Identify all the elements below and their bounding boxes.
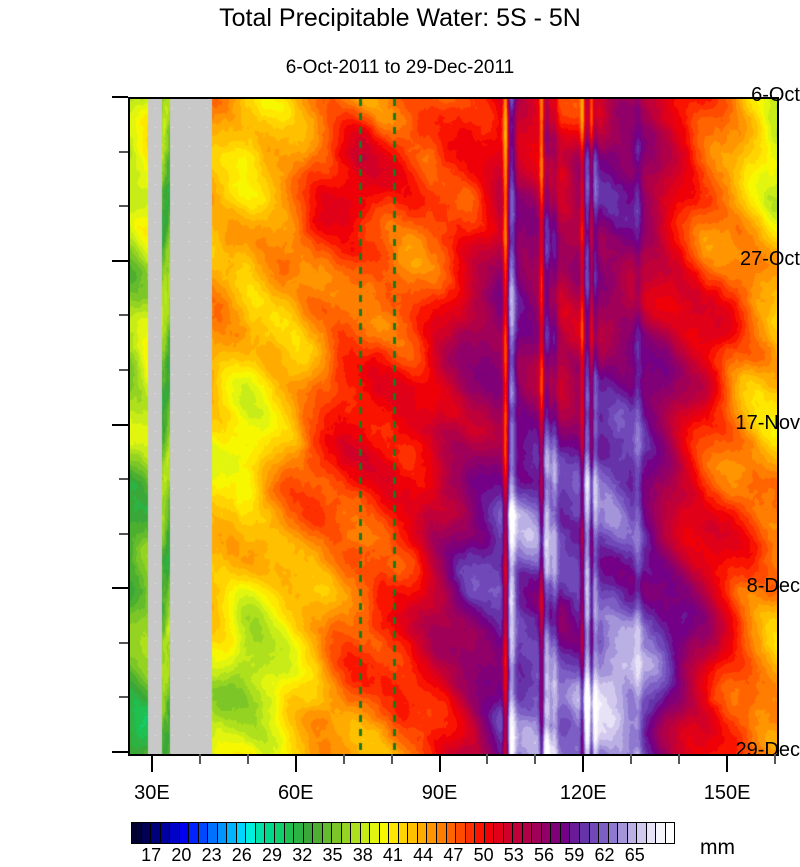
colorbar-swatch[interactable] xyxy=(628,823,638,843)
colorbar-swatch[interactable] xyxy=(399,823,409,843)
y-axis-major-tick xyxy=(112,751,128,753)
x-axis-minor-tick xyxy=(534,754,536,764)
y-axis-tick-label: 17-Nov xyxy=(696,412,800,435)
y-axis-minor-tick xyxy=(119,642,128,644)
colorbar-swatch[interactable] xyxy=(294,823,304,843)
colorbar[interactable] xyxy=(131,822,675,844)
colorbar-swatch[interactable] xyxy=(542,823,552,843)
colorbar-swatch[interactable] xyxy=(523,823,533,843)
colorbar-swatch[interactable] xyxy=(142,823,152,843)
colorbar-swatch[interactable] xyxy=(427,823,437,843)
colorbar-swatch[interactable] xyxy=(275,823,285,843)
colorbar-swatch[interactable] xyxy=(218,823,228,843)
hovmoller-figure: Total Precipitable Water: 5S - 5N 6-Oct-… xyxy=(0,0,800,867)
plot-area[interactable] xyxy=(128,97,779,756)
colorbar-swatch[interactable] xyxy=(637,823,647,843)
colorbar-swatch[interactable] xyxy=(485,823,495,843)
colorbar-swatch[interactable] xyxy=(504,823,514,843)
colorbar-swatch[interactable] xyxy=(475,823,485,843)
x-axis-tick-label: 60E xyxy=(251,782,341,805)
colorbar-swatch[interactable] xyxy=(656,823,666,843)
y-axis-minor-tick xyxy=(119,533,128,535)
colorbar-swatch[interactable] xyxy=(304,823,314,843)
x-axis-tick-label: 90E xyxy=(395,782,485,805)
colorbar-swatch[interactable] xyxy=(151,823,161,843)
colorbar-swatch[interactable] xyxy=(599,823,609,843)
x-axis-minor-tick xyxy=(774,754,776,764)
x-axis-major-tick xyxy=(726,754,728,772)
y-axis-tick-label: 29-Dec xyxy=(696,739,800,762)
colorbar-swatch[interactable] xyxy=(618,823,628,843)
colorbar-swatch[interactable] xyxy=(590,823,600,843)
y-axis-major-tick xyxy=(112,96,128,98)
colorbar-swatch[interactable] xyxy=(227,823,237,843)
x-axis-minor-tick xyxy=(678,754,680,764)
colorbar-swatch[interactable] xyxy=(380,823,390,843)
colorbar-swatch[interactable] xyxy=(389,823,399,843)
colorbar-swatch[interactable] xyxy=(561,823,571,843)
x-axis-major-tick xyxy=(439,754,441,772)
colorbar-swatch[interactable] xyxy=(370,823,380,843)
y-axis-minor-tick xyxy=(119,205,128,207)
colorbar-swatch[interactable] xyxy=(570,823,580,843)
colorbar-swatch[interactable] xyxy=(666,823,675,843)
colorbar-swatch[interactable] xyxy=(513,823,523,843)
page-subtitle: 6-Oct-2011 to 29-Dec-2011 xyxy=(0,57,800,79)
colorbar-swatch[interactable] xyxy=(456,823,466,843)
colorbar-swatch[interactable] xyxy=(323,823,333,843)
x-axis-minor-tick xyxy=(486,754,488,764)
x-axis-minor-tick xyxy=(247,754,249,764)
colorbar-swatch[interactable] xyxy=(256,823,266,843)
colorbar-swatch[interactable] xyxy=(494,823,504,843)
y-axis-tick-label: 6-Oct xyxy=(696,84,800,107)
annotation-vlines-overlay xyxy=(130,99,777,754)
y-axis-major-tick xyxy=(112,260,128,262)
colorbar-swatch[interactable] xyxy=(180,823,190,843)
colorbar-swatch[interactable] xyxy=(466,823,476,843)
x-axis-minor-tick xyxy=(199,754,201,764)
x-axis-major-tick xyxy=(295,754,297,772)
x-axis-minor-tick xyxy=(391,754,393,764)
colorbar-swatch[interactable] xyxy=(285,823,295,843)
colorbar-swatch[interactable] xyxy=(647,823,657,843)
colorbar-swatch[interactable] xyxy=(208,823,218,843)
x-axis-major-tick xyxy=(582,754,584,772)
colorbar-swatch[interactable] xyxy=(170,823,180,843)
x-axis-major-tick xyxy=(151,754,153,772)
y-axis-minor-tick xyxy=(119,696,128,698)
y-axis-tick-label: 8-Dec xyxy=(696,575,800,598)
y-axis-minor-tick xyxy=(119,314,128,316)
colorbar-swatch[interactable] xyxy=(551,823,561,843)
colorbar-swatch[interactable] xyxy=(437,823,447,843)
colorbar-swatch[interactable] xyxy=(246,823,256,843)
colorbar-swatch[interactable] xyxy=(342,823,352,843)
colorbar-swatch[interactable] xyxy=(418,823,428,843)
colorbar-swatch[interactable] xyxy=(265,823,275,843)
colorbar-swatch[interactable] xyxy=(351,823,361,843)
x-axis-minor-tick xyxy=(343,754,345,764)
y-axis-major-tick xyxy=(112,587,128,589)
colorbar-swatch[interactable] xyxy=(189,823,199,843)
colorbar-swatch[interactable] xyxy=(332,823,342,843)
colorbar-swatch[interactable] xyxy=(580,823,590,843)
x-axis-tick-label: 150E xyxy=(682,782,772,805)
colorbar-swatch[interactable] xyxy=(132,823,142,843)
colorbar-swatch[interactable] xyxy=(609,823,619,843)
y-axis-tick-label: 27-Oct xyxy=(696,248,800,271)
page-title: Total Precipitable Water: 5S - 5N xyxy=(0,4,800,33)
colorbar-swatch[interactable] xyxy=(161,823,171,843)
y-axis-minor-tick xyxy=(119,478,128,480)
x-axis-tick-label: 30E xyxy=(107,782,197,805)
colorbar-units-label: mm xyxy=(700,836,735,860)
y-axis-minor-tick xyxy=(119,151,128,153)
y-axis-minor-tick xyxy=(119,369,128,371)
y-axis-major-tick xyxy=(112,424,128,426)
colorbar-swatch[interactable] xyxy=(313,823,323,843)
colorbar-swatch[interactable] xyxy=(408,823,418,843)
colorbar-swatch[interactable] xyxy=(361,823,371,843)
colorbar-swatch[interactable] xyxy=(199,823,209,843)
colorbar-tick-label: 65 xyxy=(615,845,655,866)
colorbar-swatch[interactable] xyxy=(447,823,457,843)
x-axis-tick-label: 120E xyxy=(538,782,628,805)
colorbar-swatch[interactable] xyxy=(237,823,247,843)
colorbar-swatch[interactable] xyxy=(532,823,542,843)
x-axis-minor-tick xyxy=(630,754,632,764)
